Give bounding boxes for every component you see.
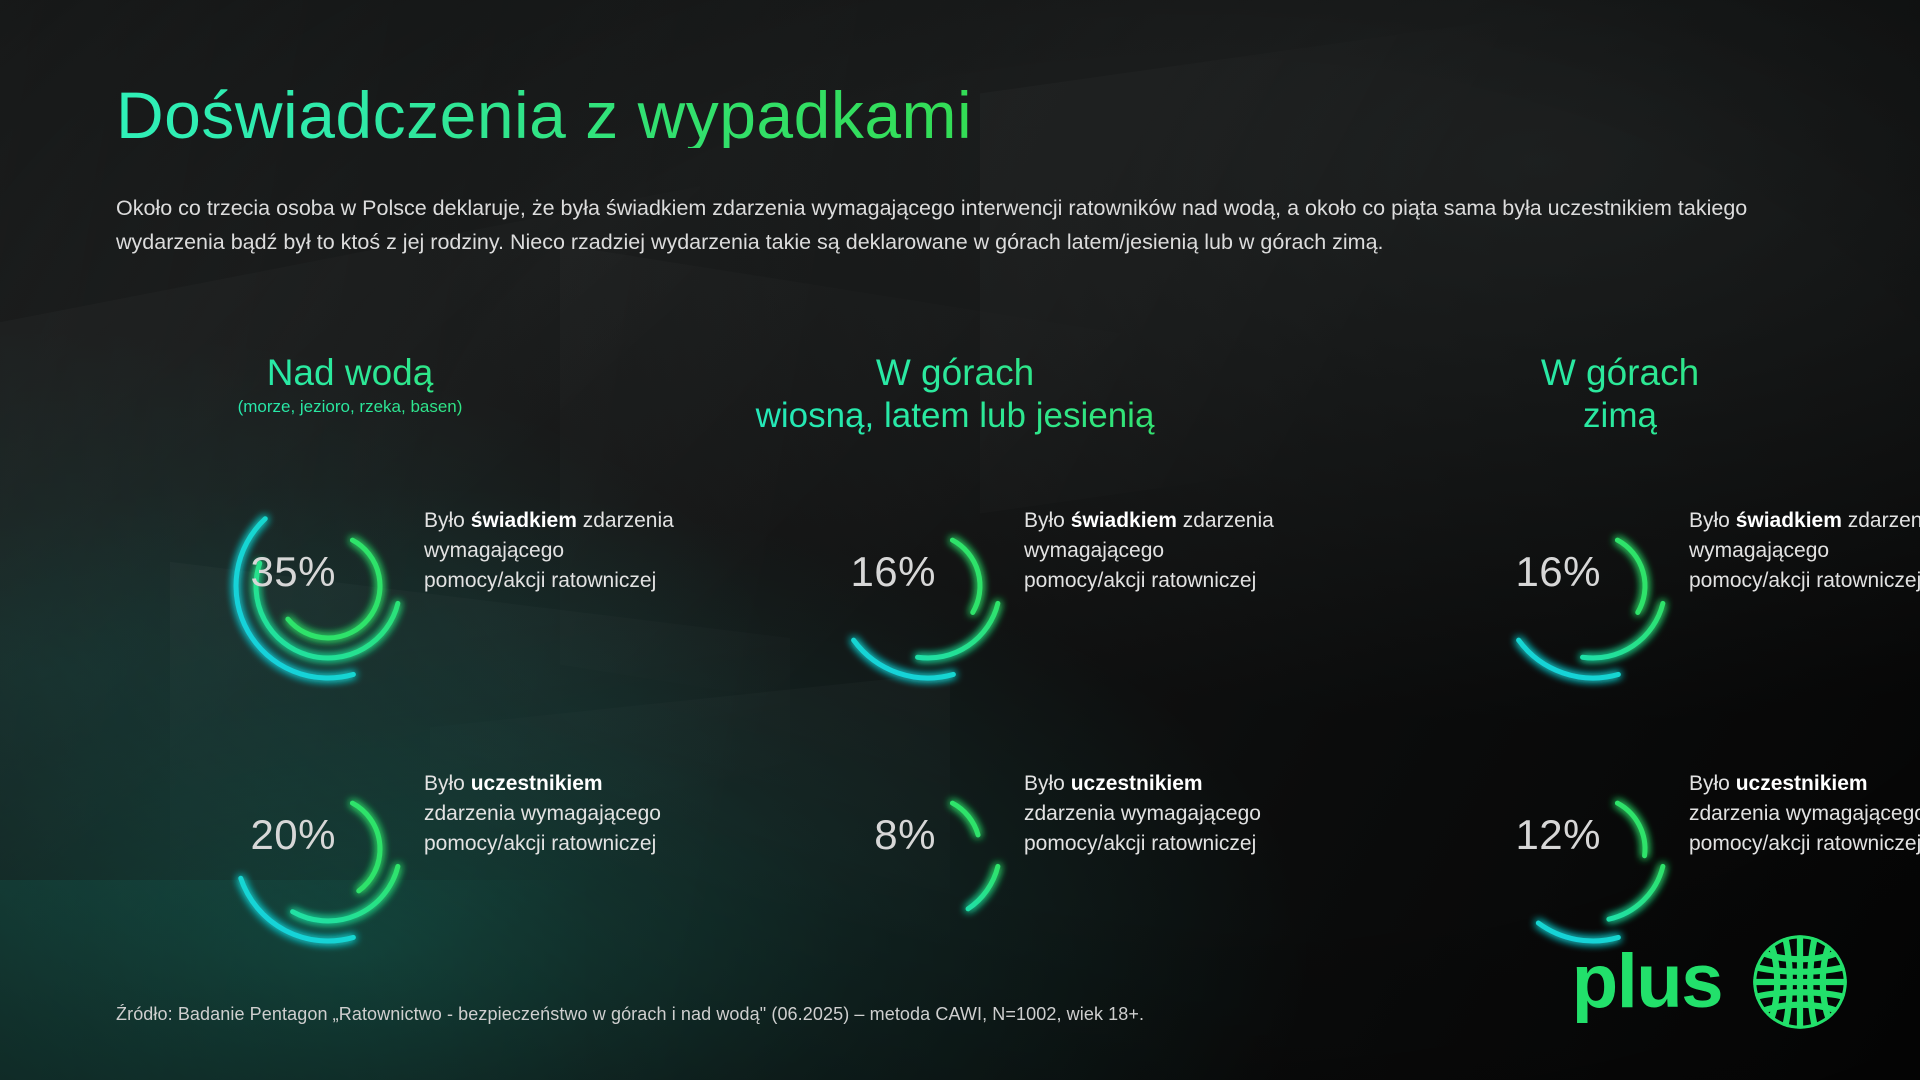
stat-keyword: uczestnikiem bbox=[1071, 772, 1203, 795]
gauge-arc-chart: 35% bbox=[210, 494, 420, 684]
stat-keyword: uczestnikiem bbox=[471, 772, 603, 795]
column-header: W górach wiosną, latem lub jesienią bbox=[700, 352, 1210, 437]
gauge-arc-segment bbox=[1617, 803, 1645, 856]
gauge-arc-segment bbox=[1609, 866, 1663, 919]
stat-row: 8% Było uczestnikiem zdarzenia wymagając… bbox=[810, 757, 1284, 947]
gauge-arc-chart: 16% bbox=[810, 494, 1020, 684]
gauge-value: 16% bbox=[816, 548, 936, 596]
gauge-arc-segment bbox=[241, 878, 354, 941]
gauge-arc-chart: 20% bbox=[210, 757, 420, 947]
column-header: Nad wodą (morze, jezioro, rzeka, basen) bbox=[95, 352, 605, 417]
plus-logo: plus bbox=[1572, 922, 1860, 1042]
gauge-arc-segment bbox=[1583, 603, 1663, 658]
stat-description: Było uczestnikiem zdarzenia wymagającego… bbox=[1689, 757, 1920, 858]
stat-description: Było uczestnikiem zdarzenia wymagającego… bbox=[424, 757, 684, 858]
stat-description: Było uczestnikiem zdarzenia wymagającego… bbox=[1024, 757, 1284, 858]
gauge-arc-segment bbox=[352, 803, 380, 891]
stat-row: 16% Było świadkiem zdarzenia wymagająceg… bbox=[810, 494, 1284, 684]
column-gory-lato: W górach wiosną, latem lub jesienią 16% … bbox=[655, 352, 1255, 437]
gauge-arc-segment bbox=[968, 866, 998, 908]
stat-keyword: świadkiem bbox=[1736, 509, 1842, 532]
gauge-arc-segment bbox=[952, 803, 978, 835]
gauge-value: 12% bbox=[1481, 811, 1601, 859]
gauge-value: 35% bbox=[216, 548, 336, 596]
stat-keyword: świadkiem bbox=[471, 509, 577, 532]
intro-paragraph: Około co trzecia osoba w Polsce deklaruj… bbox=[116, 192, 1816, 260]
gauge-arc-chart: 16% bbox=[1475, 494, 1685, 684]
gauge-arc-chart: 12% bbox=[1475, 757, 1685, 947]
column-subtitle: zimą bbox=[1365, 395, 1875, 437]
stat-description: Było świadkiem zdarzenia wymagającego po… bbox=[1024, 494, 1284, 595]
column-header: W górach zimą bbox=[1365, 352, 1875, 437]
column-subtitle: (morze, jezioro, rzeka, basen) bbox=[95, 397, 605, 417]
gauge-arc-segment bbox=[1617, 540, 1645, 612]
gauge-arc-segment bbox=[293, 866, 398, 921]
column-nad-woda: Nad wodą (morze, jezioro, rzeka, basen) … bbox=[60, 352, 660, 417]
gauge-value: 8% bbox=[816, 811, 936, 859]
gauge-value: 16% bbox=[1481, 548, 1601, 596]
column-title: W górach bbox=[700, 352, 1210, 394]
stat-row: 16% Było świadkiem zdarzenia wymagająceg… bbox=[1475, 494, 1920, 684]
gauge-arc-segment bbox=[918, 603, 998, 658]
page-title: Doświadczenia z wypadkami bbox=[116, 82, 972, 148]
gauge-arc-segment bbox=[236, 519, 353, 678]
gauge-value: 20% bbox=[216, 811, 336, 859]
stat-description: Było świadkiem zdarzenia wymagającego po… bbox=[424, 494, 684, 595]
stat-row: 20% Było uczestnikiem zdarzenia wymagają… bbox=[210, 757, 684, 947]
column-subtitle: wiosną, latem lub jesienią bbox=[700, 395, 1210, 437]
stat-keyword: świadkiem bbox=[1071, 509, 1177, 532]
plus-wordmark: plus bbox=[1572, 951, 1722, 1013]
stat-keyword: uczestnikiem bbox=[1736, 772, 1868, 795]
plus-sphere-icon bbox=[1740, 922, 1860, 1042]
stat-row: 35% Było świadkiem zdarzenia wymagająceg… bbox=[210, 494, 684, 684]
source-note: Źródło: Badanie Pentagon „Ratownictwo - … bbox=[116, 1004, 1144, 1025]
gauge-arc-segment bbox=[952, 540, 980, 612]
stat-row: 12% Było uczestnikiem zdarzenia wymagają… bbox=[1475, 757, 1920, 947]
column-title: W górach bbox=[1365, 352, 1875, 394]
gauge-arc-chart: 8% bbox=[810, 757, 1020, 947]
stat-description: Było świadkiem zdarzenia wymagającego po… bbox=[1689, 494, 1920, 595]
column-gory-zima: W górach zimą 16% Było świadkiem zdarzen… bbox=[1250, 352, 1850, 437]
column-title: Nad wodą bbox=[95, 352, 605, 394]
